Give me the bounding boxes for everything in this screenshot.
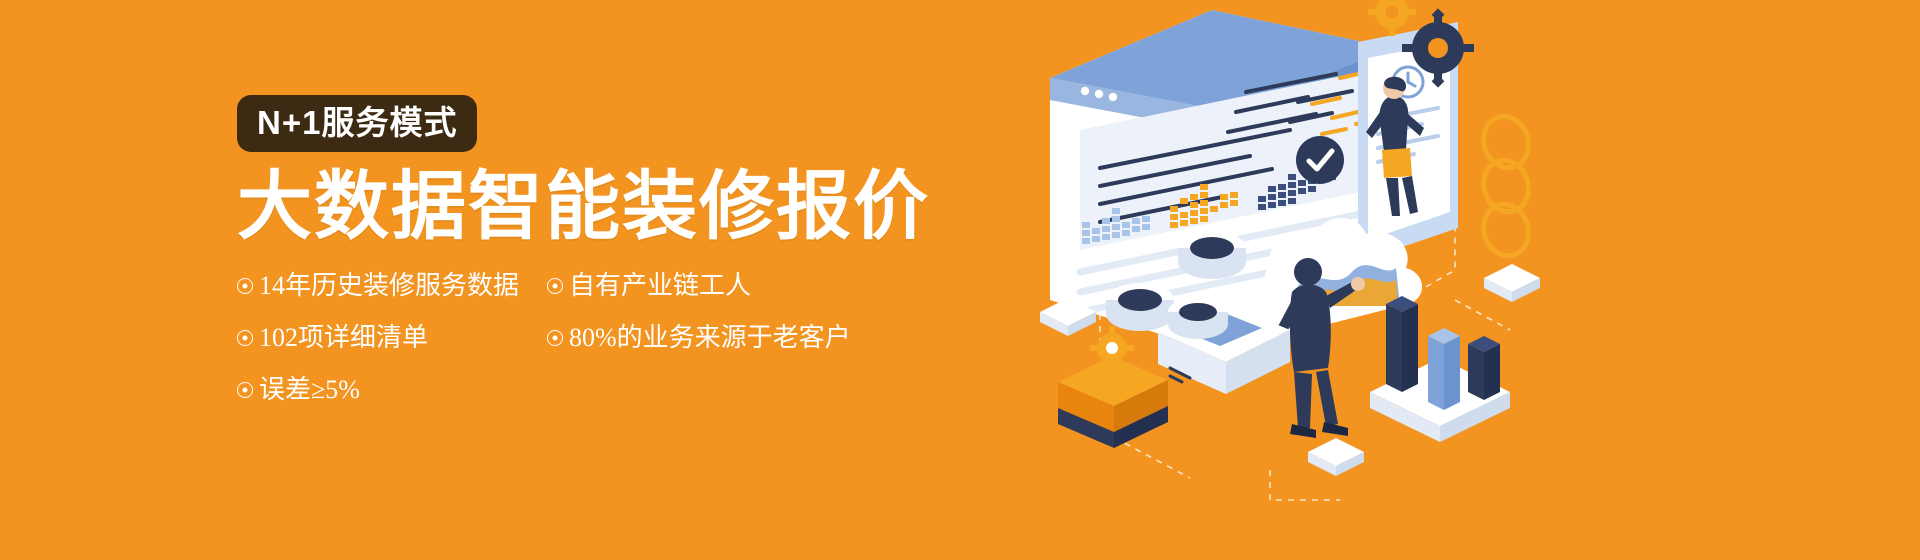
list-item: 误差≥5%: [237, 377, 547, 403]
bullet-label: 102项详细清单: [259, 325, 428, 351]
feature-bullet-list: 14年历史装修服务数据 102项详细清单 误差≥5% 自有产业链工人: [237, 273, 1017, 429]
bullet-column-right: 自有产业链工人 80%的业务来源于老客户: [547, 273, 877, 429]
floating-card-icon: [1484, 264, 1540, 302]
isometric-big-data-illustration: [1040, 0, 1600, 560]
banner-headline: 大数据智能装修报价: [237, 166, 1017, 247]
bullet-label: 误差≥5%: [259, 377, 360, 403]
promo-banner: N+1服务模式 大数据智能装修报价 14年历史装修服务数据 102项详细清单 误…: [0, 0, 1920, 560]
bullet-label: 80%的业务来源于老客户: [569, 325, 851, 351]
circled-dot-icon: [237, 382, 253, 398]
circled-dot-icon: [547, 278, 563, 294]
banner-text-block: N+1服务模式 大数据智能装修报价 14年历史装修服务数据 102项详细清单 误…: [237, 95, 1017, 429]
list-item: 80%的业务来源于老客户: [547, 325, 877, 351]
circled-dot-icon: [237, 330, 253, 346]
bullet-label: 14年历史装修服务数据: [259, 273, 519, 299]
database-icon: [1058, 326, 1168, 448]
bullet-label: 自有产业链工人: [569, 273, 751, 299]
floating-card-icon: [1308, 438, 1364, 476]
checkmark-badge-icon: [1296, 136, 1344, 184]
ring-stack-icon: [1477, 110, 1535, 261]
circled-dot-icon: [547, 330, 563, 346]
list-item: 自有产业链工人: [547, 273, 877, 299]
bullet-column-left: 14年历史装修服务数据 102项详细清单 误差≥5%: [237, 273, 547, 429]
list-item: 14年历史装修服务数据: [237, 273, 547, 299]
circled-dot-icon: [237, 278, 253, 294]
list-item: 102项详细清单: [237, 325, 547, 351]
service-model-badge: N+1服务模式: [237, 95, 477, 152]
